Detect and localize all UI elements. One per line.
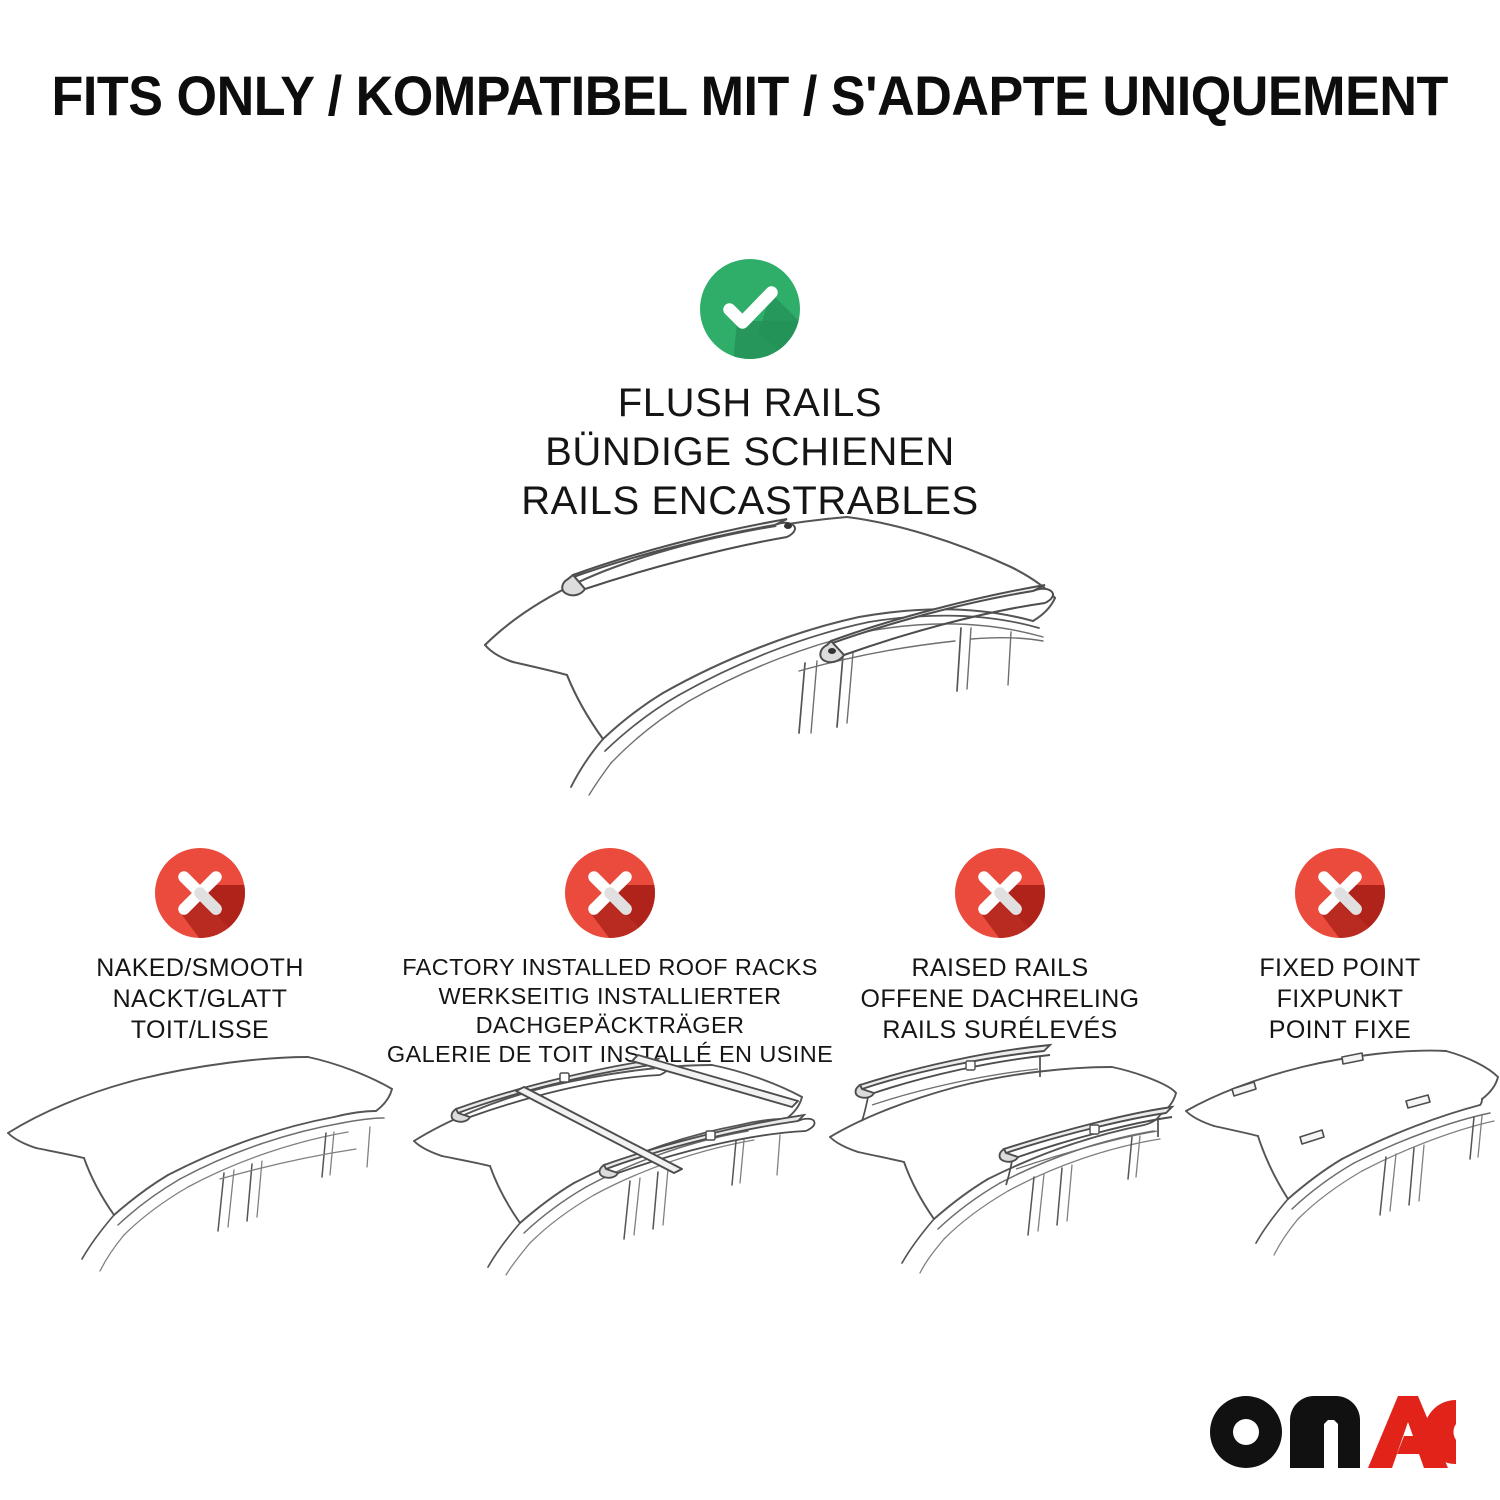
flush-rail-far [562, 519, 795, 595]
cross-circle-icon [952, 845, 1048, 941]
page-title: FITS ONLY / KOMPATIBEL MIT / S'ADAPTE UN… [52, 63, 1448, 128]
car-roof-with-factory-crossbars-illustration [400, 1045, 820, 1275]
roof-raised-rails-svg [820, 1045, 1180, 1275]
label-line-de-1: WERKSEITIG INSTALLIERTER [387, 982, 833, 1011]
roof-factory-racks-svg [400, 1045, 820, 1275]
cross-circle-icon [562, 845, 658, 941]
label-line-fr: POINT FIXE [1259, 1015, 1420, 1046]
car-roof-with-flush-rails-illustration [455, 495, 1065, 795]
label-line-de: OFFENE DACHRELING [860, 984, 1139, 1015]
label-line-en: FIXED POINT [1259, 953, 1420, 984]
check-circle-svg [696, 255, 804, 363]
fixed-point-cover [1300, 1130, 1324, 1144]
label-line-en: NAKED/SMOOTH [96, 953, 304, 984]
label-line-fr: RAILS SURÉLEVÉS [860, 1015, 1139, 1046]
incompatible-column-raised-rails: RAISED RAILS OFFENE DACHRELING RAILS SUR… [820, 845, 1180, 1315]
car-roof-bare-illustration [0, 1045, 400, 1275]
label-line-de: NACKT/GLATT [96, 984, 304, 1015]
logo-letter-m [1290, 1396, 1360, 1468]
incompatible-label-raised-rails: RAISED RAILS OFFENE DACHRELING RAILS SUR… [860, 953, 1139, 1046]
label-line-en: RAISED RAILS [860, 953, 1139, 984]
incompatible-column-naked-smooth: NAKED/SMOOTH NACKT/GLATT TOIT/LISSE [0, 845, 400, 1315]
check-badge-wrap [0, 255, 1500, 363]
compatible-title-line-en: FLUSH RAILS [0, 379, 1500, 428]
compatible-section: FLUSH RAILS BÜNDIGE SCHIENEN RAILS ENCAS… [0, 255, 1500, 525]
incompatible-column-fixed-point: FIXED POINT FIXPUNKT POINT FIXE [1180, 845, 1500, 1315]
cross-circle-icon [1292, 845, 1388, 941]
car-roof-with-raised-rails-illustration [820, 1045, 1180, 1275]
car-roof-with-fixed-points-illustration [1180, 1045, 1500, 1275]
incompatible-column-factory-roof-racks: FACTORY INSTALLED ROOF RACKS WERKSEITIG … [400, 845, 820, 1315]
cross-circle-svg [562, 845, 658, 941]
check-circle-icon [696, 255, 804, 363]
fixed-point-cover [1342, 1053, 1363, 1064]
header: FITS ONLY / KOMPATIBEL MIT / S'ADAPTE UN… [0, 0, 1500, 190]
logo-letter-o [1210, 1396, 1282, 1468]
compatible-title-line-de: BÜNDIGE SCHIENEN [0, 428, 1500, 477]
label-line-de-2: DACHGEPÄCKTRÄGER [387, 1011, 833, 1040]
incompatible-label-fixed-point: FIXED POINT FIXPUNKT POINT FIXE [1259, 953, 1420, 1046]
label-line-de: FIXPUNKT [1259, 984, 1420, 1015]
omac-logo-svg [1208, 1394, 1458, 1472]
flush-rails-svg [455, 495, 1065, 795]
roof-fixed-points-svg [1180, 1045, 1500, 1275]
cross-circle-svg [1292, 845, 1388, 941]
cross-circle-svg [152, 845, 248, 941]
label-line-en: FACTORY INSTALLED ROOF RACKS [387, 953, 833, 982]
cross-circle-svg [952, 845, 1048, 941]
incompatible-section: NAKED/SMOOTH NACKT/GLATT TOIT/LISSE [0, 845, 1500, 1315]
omac-logo [1208, 1394, 1458, 1472]
incompatible-label-naked-smooth: NAKED/SMOOTH NACKT/GLATT TOIT/LISSE [96, 953, 304, 1046]
cross-circle-icon [152, 845, 248, 941]
label-line-fr: TOIT/LISSE [96, 1015, 304, 1046]
fixed-point-cover [1406, 1095, 1430, 1108]
roof-bare-svg [0, 1045, 400, 1275]
